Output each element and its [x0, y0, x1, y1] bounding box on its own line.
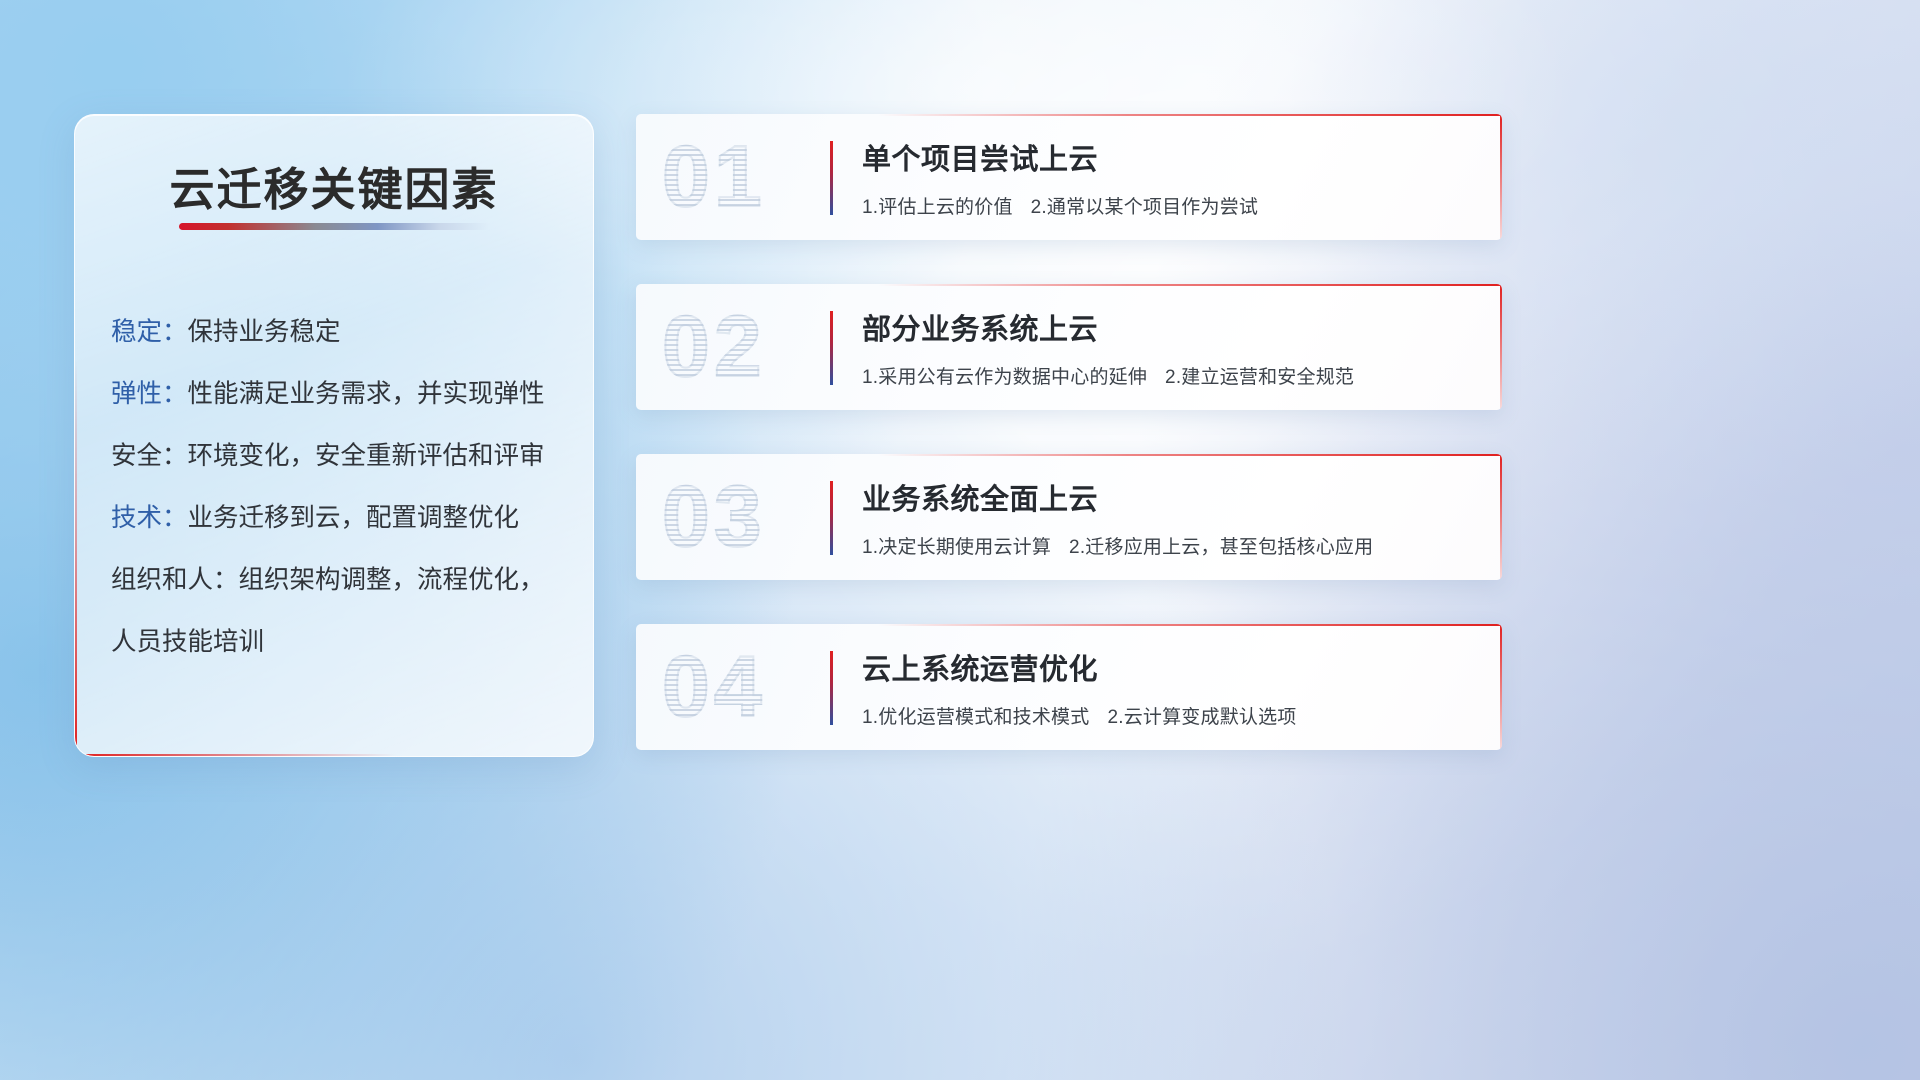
list-item: 组织和人：组织架构调整，流程优化，	[111, 549, 569, 611]
stage-description: 1.优化运营模式和技术模式2.云计算变成默认选项	[862, 702, 1472, 729]
stage-card[interactable]: 02 部分业务系统上云 1.采用公有云作为数据中心的延伸2.建立运营和安全规范	[636, 284, 1502, 410]
stage-title: 业务系统全面上云	[862, 476, 1472, 518]
stage-title: 云上系统运营优化	[862, 646, 1472, 688]
fact-label: 技术：	[111, 504, 188, 532]
stage-description: 1.评估上云的价值2.通常以某个项目作为尝试	[862, 192, 1472, 219]
list-item: 技术：业务迁移到云，配置调整优化	[111, 487, 569, 549]
list-item: 弹性：性能满足业务需求，并实现弹性	[111, 363, 569, 425]
list-item: 安全：环境变化，安全重新评估和评审	[111, 425, 569, 487]
stage-point-2: 2.迁移应用上云，甚至包括核心应用	[1069, 537, 1373, 558]
stage-point-1: 1.决定长期使用云计算	[862, 537, 1051, 558]
stage-point-2: 2.云计算变成默认选项	[1107, 707, 1296, 728]
stage-number: 04	[662, 644, 766, 730]
fact-value: 业务迁移到云，配置调整优化	[188, 504, 520, 532]
fact-value: 组织架构调整，流程优化，	[239, 566, 545, 594]
fact-value: 性能满足业务需求，并实现弹性	[188, 380, 545, 408]
stage-card[interactable]: 03 业务系统全面上云 1.决定长期使用云计算2.迁移应用上云，甚至包括核心应用	[636, 454, 1502, 580]
stage-point-2: 2.通常以某个项目作为尝试	[1031, 197, 1258, 218]
key-factors-list: 稳定：保持业务稳定 弹性：性能满足业务需求，并实现弹性 安全：环境变化，安全重新…	[111, 301, 569, 673]
stage-point-2: 2.建立运营和安全规范	[1165, 367, 1354, 388]
stage-card[interactable]: 01 单个项目尝试上云 1.评估上云的价值2.通常以某个项目作为尝试	[636, 114, 1502, 240]
title-underline-gradient	[179, 223, 489, 230]
fact-label: 弹性：	[111, 380, 188, 408]
fact-value: 保持业务稳定	[188, 318, 341, 346]
fact-value: 环境变化，安全重新评估和评审	[188, 442, 545, 470]
stage-card-body: 单个项目尝试上云 1.评估上云的价值2.通常以某个项目作为尝试	[862, 136, 1472, 219]
key-factors-panel: 云迁移关键因素 稳定：保持业务稳定 弹性：性能满足业务需求，并实现弹性 安全：环…	[74, 114, 594, 757]
stage-title: 单个项目尝试上云	[862, 136, 1472, 178]
stage-point-1: 1.评估上云的价值	[862, 197, 1013, 218]
slide-root: 云迁移关键因素 稳定：保持业务稳定 弹性：性能满足业务需求，并实现弹性 安全：环…	[0, 0, 1920, 1080]
stage-number: 02	[662, 304, 766, 390]
stage-number: 01	[662, 134, 766, 220]
fact-value: 人员技能培训	[111, 628, 264, 656]
page-title: 云迁移关键因素	[75, 153, 593, 218]
stage-number: 03	[662, 474, 766, 560]
list-item-continuation: 人员技能培训	[111, 611, 569, 673]
stage-divider-bar	[830, 481, 833, 555]
fact-label: 组织和人：	[111, 566, 239, 594]
stage-point-1: 1.优化运营模式和技术模式	[862, 707, 1089, 728]
stage-card-body: 部分业务系统上云 1.采用公有云作为数据中心的延伸2.建立运营和安全规范	[862, 306, 1472, 389]
stage-card[interactable]: 04 云上系统运营优化 1.优化运营模式和技术模式2.云计算变成默认选项	[636, 624, 1502, 750]
stage-description: 1.决定长期使用云计算2.迁移应用上云，甚至包括核心应用	[862, 532, 1472, 559]
list-item: 稳定：保持业务稳定	[111, 301, 569, 363]
stage-divider-bar	[830, 141, 833, 215]
stage-card-body: 云上系统运营优化 1.优化运营模式和技术模式2.云计算变成默认选项	[862, 646, 1472, 729]
stage-description: 1.采用公有云作为数据中心的延伸2.建立运营和安全规范	[862, 362, 1472, 389]
stage-card-list: 01 单个项目尝试上云 1.评估上云的价值2.通常以某个项目作为尝试 02 部分…	[636, 114, 1502, 794]
stage-title: 部分业务系统上云	[862, 306, 1472, 348]
fact-label: 安全：	[111, 442, 188, 470]
stage-card-body: 业务系统全面上云 1.决定长期使用云计算2.迁移应用上云，甚至包括核心应用	[862, 476, 1472, 559]
stage-divider-bar	[830, 651, 833, 725]
stage-point-1: 1.采用公有云作为数据中心的延伸	[862, 367, 1147, 388]
stage-divider-bar	[830, 311, 833, 385]
fact-label: 稳定：	[111, 318, 188, 346]
